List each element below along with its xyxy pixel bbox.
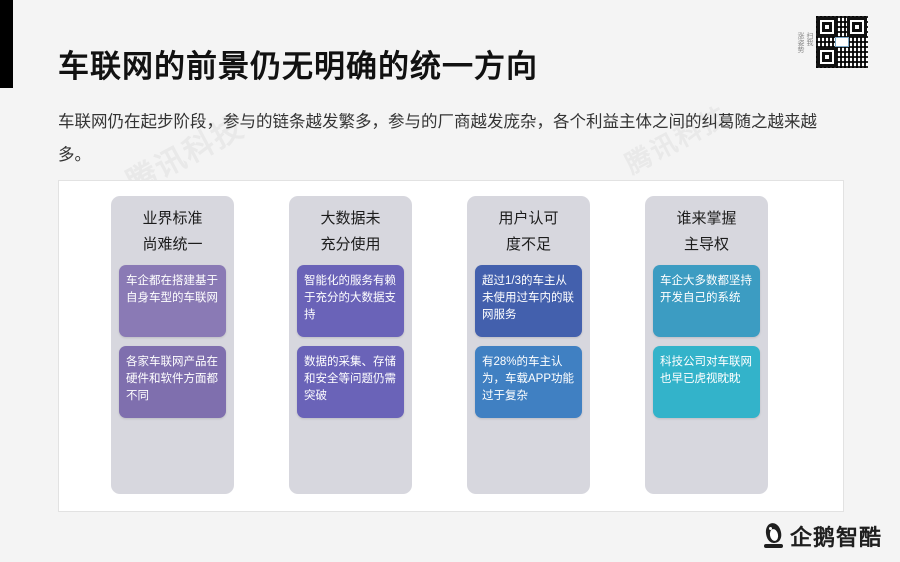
content-card: 业界标准 尚难统一 车企都在搭建基于自身车型的车联网 各家车联网产品在硬件和软件…: [58, 180, 844, 512]
column-heading-line2: 主导权: [684, 232, 729, 258]
qr-eye-bottom-left: [817, 47, 837, 67]
fact-box: 各家车联网产品在硬件和软件方面都不同: [119, 346, 226, 418]
fact-box: 有28%的车主认为，车载APP功能过于复杂: [475, 346, 582, 418]
column-heading-line1: 谁来掌握: [676, 206, 736, 232]
fact-box: 数据的采集、存储和安全等问题仍需突破: [297, 346, 404, 418]
qr-caption-line1: 扫我: [805, 32, 813, 53]
column-heading-line2: 充分使用: [320, 232, 380, 258]
qr-center-logo: [835, 37, 849, 47]
column-user-acceptance: 用户认可 度不足 超过1/3的车主从未使用过车内的联网服务 有28%的车主认为，…: [467, 196, 590, 494]
column-who-leads: 谁来掌握 主导权 车企大多数都坚持开发自己的系统 科技公司对车联网也早已虎视眈眈: [645, 196, 768, 494]
qr-block: 扫我 涨姿势: [796, 16, 868, 68]
accent-bar: [0, 0, 13, 88]
column-industry-standard: 业界标准 尚难统一 车企都在搭建基于自身车型的车联网 各家车联网产品在硬件和软件…: [111, 196, 234, 494]
fact-box: 车企都在搭建基于自身车型的车联网: [119, 265, 226, 337]
penguin-foot: [764, 544, 783, 548]
brand-logo: 企鹅智酷: [763, 520, 882, 552]
fact-box: 科技公司对车联网也早已虎视眈眈: [653, 346, 760, 418]
qr-caption: 扫我 涨姿势: [796, 32, 813, 53]
columns-container: 业界标准 尚难统一 车企都在搭建基于自身车型的车联网 各家车联网产品在硬件和软件…: [111, 196, 768, 494]
column-heading-line1: 用户认可: [498, 206, 558, 232]
page-subtitle: 车联网仍在起步阶段，参与的链条越发繁多，参与的厂商越发庞杂，各个利益主体之间的纠…: [58, 106, 848, 172]
column-big-data: 大数据未 充分使用 智能化的服务有赖于充分的大数据支持 数据的采集、存储和安全等…: [289, 196, 412, 494]
fact-box: 超过1/3的车主从未使用过车内的联网服务: [475, 265, 582, 337]
column-heading-line2: 尚难统一: [142, 232, 202, 258]
fact-box: 智能化的服务有赖于充分的大数据支持: [297, 265, 404, 337]
fact-box: 车企大多数都坚持开发自己的系统: [653, 265, 760, 337]
column-heading-line1: 大数据未: [320, 206, 380, 232]
qr-caption-line2: 涨姿势: [796, 32, 804, 53]
brand-name: 企鹅智酷: [790, 520, 882, 552]
column-heading-line1: 业界标准: [142, 206, 202, 232]
penguin-eye: [769, 527, 772, 530]
column-heading-line2: 度不足: [506, 232, 551, 258]
page-title: 车联网的前景仍无明确的统一方向: [58, 41, 538, 86]
penguin-icon: [763, 523, 785, 549]
qr-code-icon[interactable]: [816, 16, 868, 68]
